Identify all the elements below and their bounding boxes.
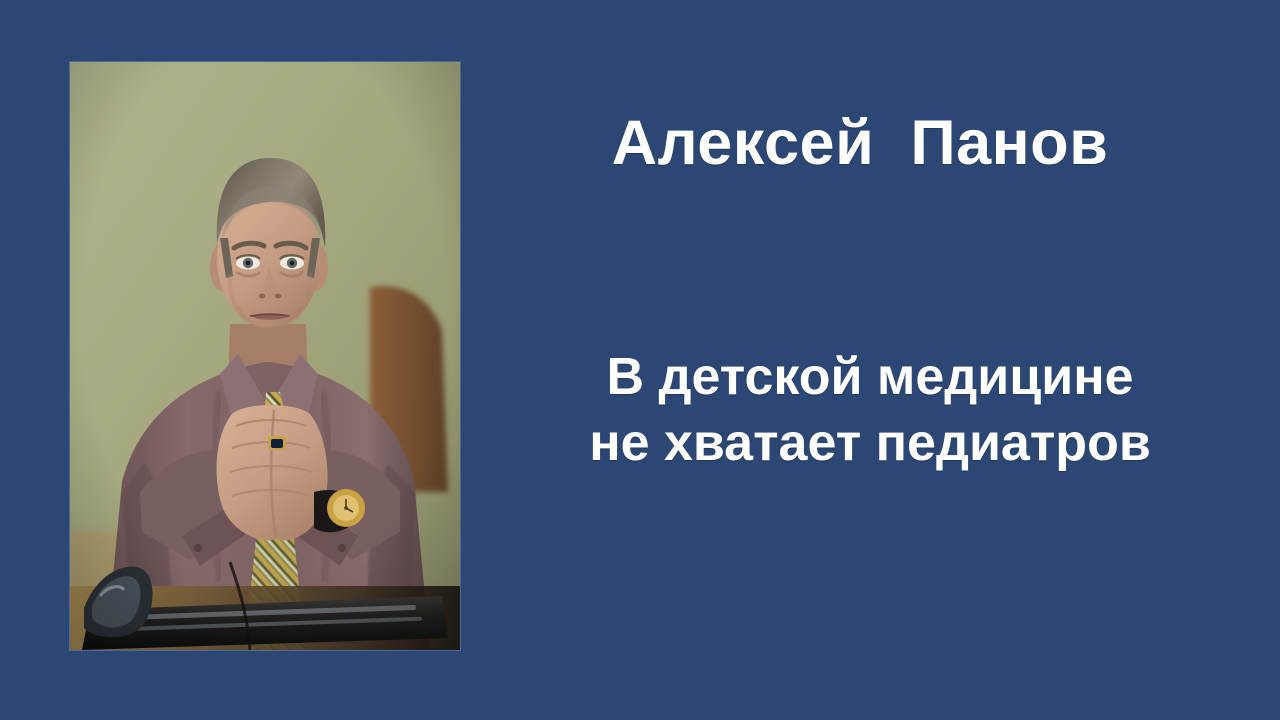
portrait-photo-image: [70, 62, 460, 650]
slide-subtitle: В детской медицине не хватает педиатров: [500, 345, 1240, 476]
slide-canvas: Алексей Панов В детской медицине не хват…: [0, 0, 1280, 720]
slide-subtitle-line-1: В детской медицине: [500, 345, 1240, 411]
slide-title: Алексей Панов: [500, 110, 1220, 176]
portrait-photo: [70, 62, 460, 650]
slide-subtitle-line-2: не хватает педиатров: [500, 411, 1240, 477]
